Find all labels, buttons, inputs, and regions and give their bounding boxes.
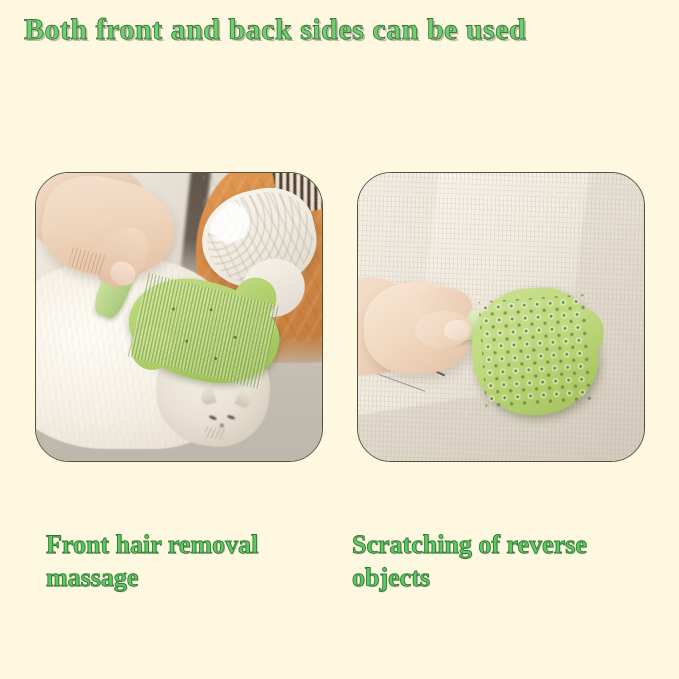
cat-whiskers [204,426,226,440]
scene-sofa-scratching [358,173,644,461]
brush-head-reverse [468,284,602,419]
brush-nubs-grid-offset [479,295,592,409]
caption-row: Front hair removal massage Scratching of… [0,528,679,638]
photo-front-use [35,172,323,462]
photo-row [0,172,679,464]
scene-cat-grooming [36,173,322,461]
cat-eye-right [228,415,236,420]
caption-reverse-use: Scratching of reverse objects [352,528,652,594]
photo-reverse-use [357,172,645,462]
cat-ear-left [199,387,216,406]
cat-eye-left [209,415,217,421]
caption-front-use: Front hair removal massage [46,528,326,594]
page-title: Both front and back sides can be used [24,12,664,48]
infographic-page: Both front and back sides can be used [0,0,679,679]
